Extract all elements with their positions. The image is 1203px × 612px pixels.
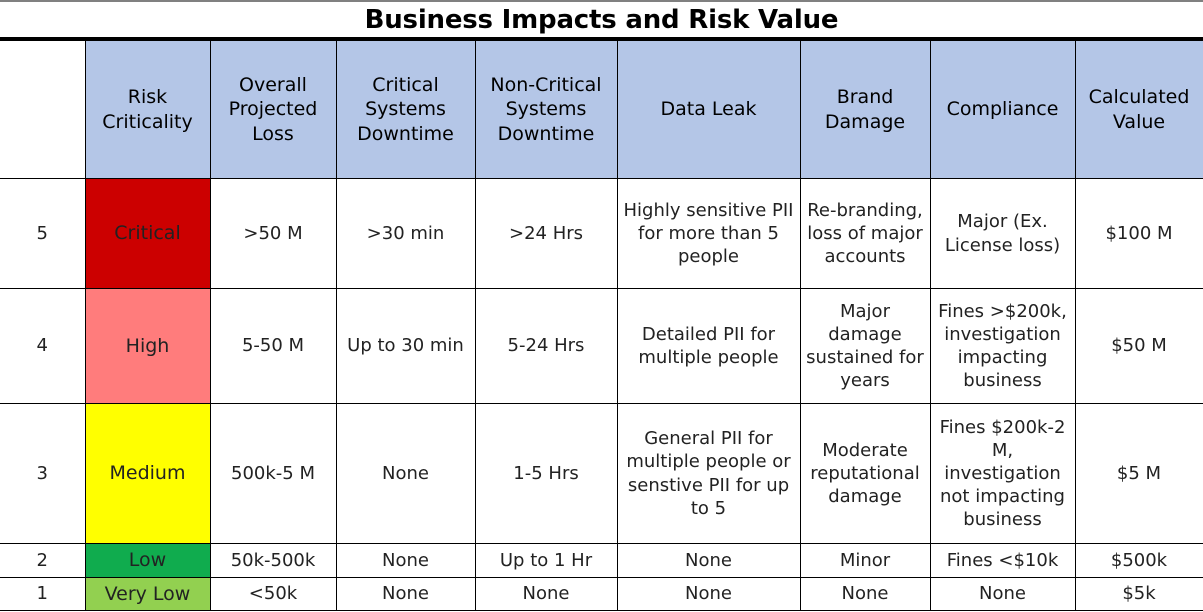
- column-header-non-critical-systems-downtime: Non-Critical Systems Downtime: [475, 41, 617, 179]
- critical-systems-downtime-cell: None: [336, 544, 475, 578]
- overall-projected-loss-cell: >50 M: [210, 179, 336, 289]
- row-index: 3: [0, 404, 85, 544]
- calculated-value-cell: $5k: [1075, 578, 1203, 611]
- table-row: 4 High 5-50 M Up to 30 min 5-24 Hrs Deta…: [0, 289, 1203, 404]
- risk-criticality-cell: Medium: [85, 404, 210, 544]
- compliance-cell: Major (Ex. License loss): [930, 179, 1075, 289]
- overall-projected-loss-cell: 5-50 M: [210, 289, 336, 404]
- non-critical-systems-downtime-cell: Up to 1 Hr: [475, 544, 617, 578]
- column-header-corner: [0, 41, 85, 179]
- non-critical-systems-downtime-cell: 5-24 Hrs: [475, 289, 617, 404]
- table-row: 3 Medium 500k-5 M None 1-5 Hrs General P…: [0, 404, 1203, 544]
- data-leak-cell: General PII for multiple people or senst…: [617, 404, 800, 544]
- critical-systems-downtime-cell: Up to 30 min: [336, 289, 475, 404]
- brand-damage-cell: Minor: [800, 544, 930, 578]
- overall-projected-loss-cell: 50k-500k: [210, 544, 336, 578]
- column-header-overall-projected-loss: Overall Projected Loss: [210, 41, 336, 179]
- calculated-value-cell: $50 M: [1075, 289, 1203, 404]
- column-header-calculated-value: Calculated Value: [1075, 41, 1203, 179]
- brand-damage-cell: Re-branding, loss of major accounts: [800, 179, 930, 289]
- brand-damage-cell: None: [800, 578, 930, 611]
- data-leak-cell: None: [617, 544, 800, 578]
- compliance-cell: None: [930, 578, 1075, 611]
- overall-projected-loss-cell: 500k-5 M: [210, 404, 336, 544]
- table-body: 5 Critical >50 M >30 min >24 Hrs Highly …: [0, 179, 1203, 611]
- compliance-cell: Fines $200k-2 M, investigation not impac…: [930, 404, 1075, 544]
- risk-criticality-cell: Critical: [85, 179, 210, 289]
- compliance-cell: Fines <$10k: [930, 544, 1075, 578]
- calculated-value-cell: $100 M: [1075, 179, 1203, 289]
- overall-projected-loss-cell: <50k: [210, 578, 336, 611]
- data-leak-cell: Highly sensitive PII for more than 5 peo…: [617, 179, 800, 289]
- column-header-brand-damage: Brand Damage: [800, 41, 930, 179]
- non-critical-systems-downtime-cell: 1-5 Hrs: [475, 404, 617, 544]
- page-title: Business Impacts and Risk Value: [365, 5, 839, 35]
- row-index: 5: [0, 179, 85, 289]
- critical-systems-downtime-cell: >30 min: [336, 179, 475, 289]
- column-header-risk-criticality: Risk Criticality: [85, 41, 210, 179]
- row-index: 2: [0, 544, 85, 578]
- critical-systems-downtime-cell: None: [336, 578, 475, 611]
- table-header: Risk Criticality Overall Projected Loss …: [0, 41, 1203, 179]
- risk-criticality-cell: High: [85, 289, 210, 404]
- brand-damage-cell: Moderate reputational damage: [800, 404, 930, 544]
- calculated-value-cell: $5 M: [1075, 404, 1203, 544]
- title-bar: Business Impacts and Risk Value: [0, 2, 1203, 40]
- header-row: Risk Criticality Overall Projected Loss …: [0, 41, 1203, 179]
- risk-criticality-cell: Very Low: [85, 578, 210, 611]
- non-critical-systems-downtime-cell: >24 Hrs: [475, 179, 617, 289]
- table-row: 5 Critical >50 M >30 min >24 Hrs Highly …: [0, 179, 1203, 289]
- table-row: 1 Very Low <50k None None None None None…: [0, 578, 1203, 611]
- data-leak-cell: None: [617, 578, 800, 611]
- data-leak-cell: Detailed PII for multiple people: [617, 289, 800, 404]
- calculated-value-cell: $500k: [1075, 544, 1203, 578]
- risk-criticality-cell: Low: [85, 544, 210, 578]
- column-header-compliance: Compliance: [930, 41, 1075, 179]
- table-row: 2 Low 50k-500k None Up to 1 Hr None Mino…: [0, 544, 1203, 578]
- row-index: 1: [0, 578, 85, 611]
- brand-damage-cell: Major damage sustained for years: [800, 289, 930, 404]
- compliance-cell: Fines >$200k, investigation impacting bu…: [930, 289, 1075, 404]
- column-header-critical-systems-downtime: Critical Systems Downtime: [336, 41, 475, 179]
- row-index: 4: [0, 289, 85, 404]
- column-header-data-leak: Data Leak: [617, 41, 800, 179]
- spreadsheet-sheet: Business Impacts and Risk Value Risk Cri…: [0, 0, 1203, 612]
- risk-matrix-table: Risk Criticality Overall Projected Loss …: [0, 40, 1203, 611]
- critical-systems-downtime-cell: None: [336, 404, 475, 544]
- non-critical-systems-downtime-cell: None: [475, 578, 617, 611]
